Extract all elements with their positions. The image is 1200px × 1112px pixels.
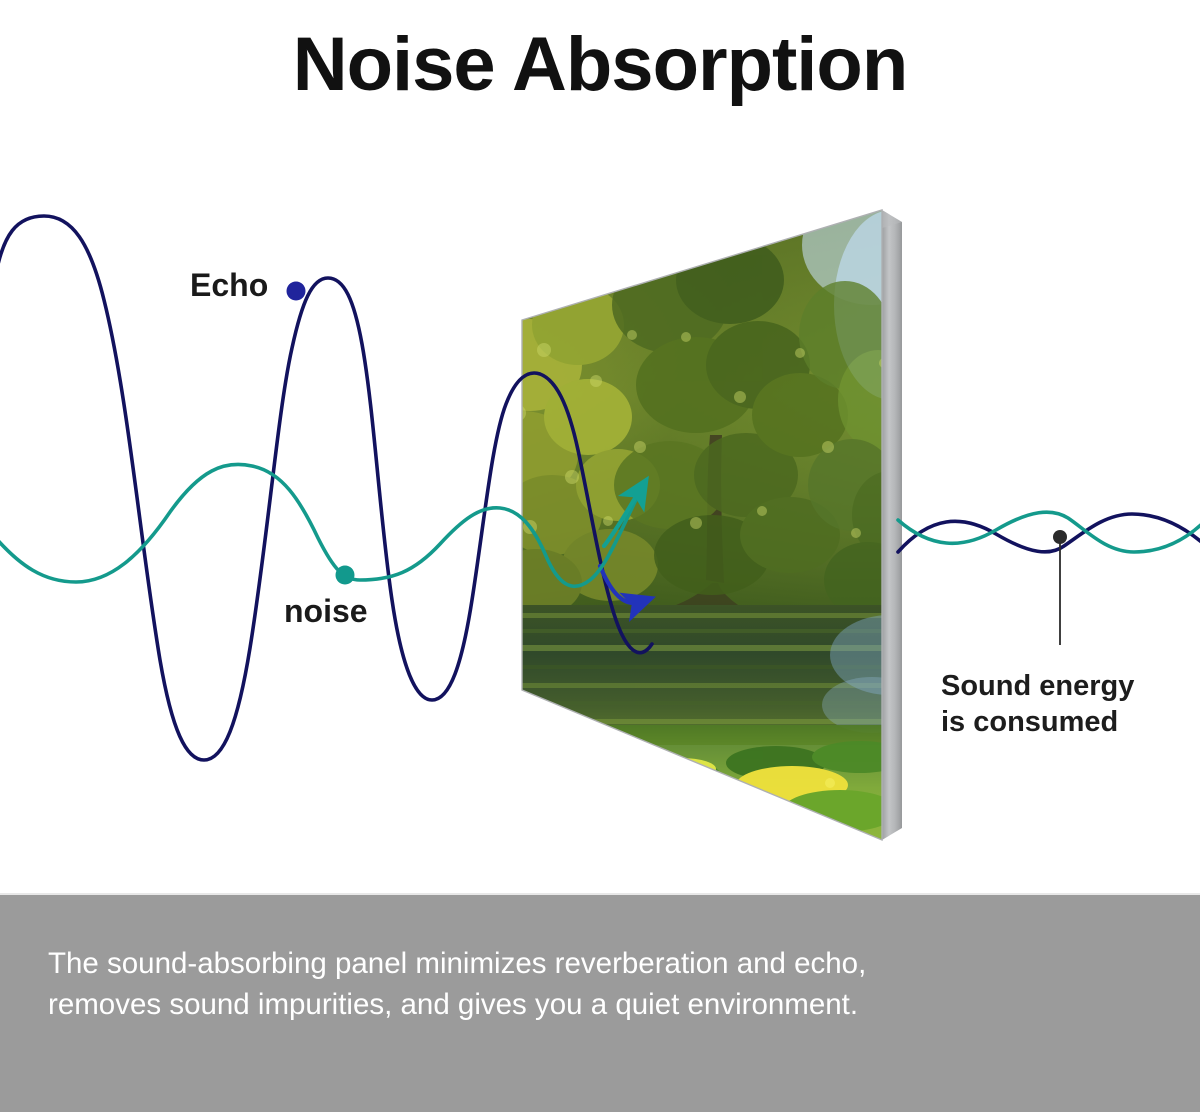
noise-wave-arrow (604, 490, 640, 546)
caption-bar: The sound-absorbing panel minimizes reve… (0, 893, 1200, 1112)
echo-wave-left (0, 216, 652, 760)
caption-text: The sound-absorbing panel minimizes reve… (0, 943, 1200, 1025)
noise-wave-left (0, 464, 640, 586)
consumed-dot (1053, 530, 1067, 544)
attenuated-echo-wave (898, 514, 1200, 552)
noise-label: noise (284, 594, 368, 628)
consumed-line-1: Sound energy (941, 668, 1134, 704)
sound-wave-diagram (0, 0, 1200, 893)
consumed-line-2: is consumed (941, 704, 1134, 740)
infographic-root: Noise Absorption (0, 0, 1200, 1112)
echo-dot (287, 282, 306, 301)
echo-label: Echo (190, 268, 268, 302)
caption-line-1: The sound-absorbing panel minimizes reve… (48, 943, 1152, 984)
sound-energy-consumed-label: Sound energy is consumed (941, 668, 1134, 740)
noise-dot (336, 566, 355, 585)
caption-line-2: removes sound impurities, and gives you … (48, 984, 1152, 1025)
